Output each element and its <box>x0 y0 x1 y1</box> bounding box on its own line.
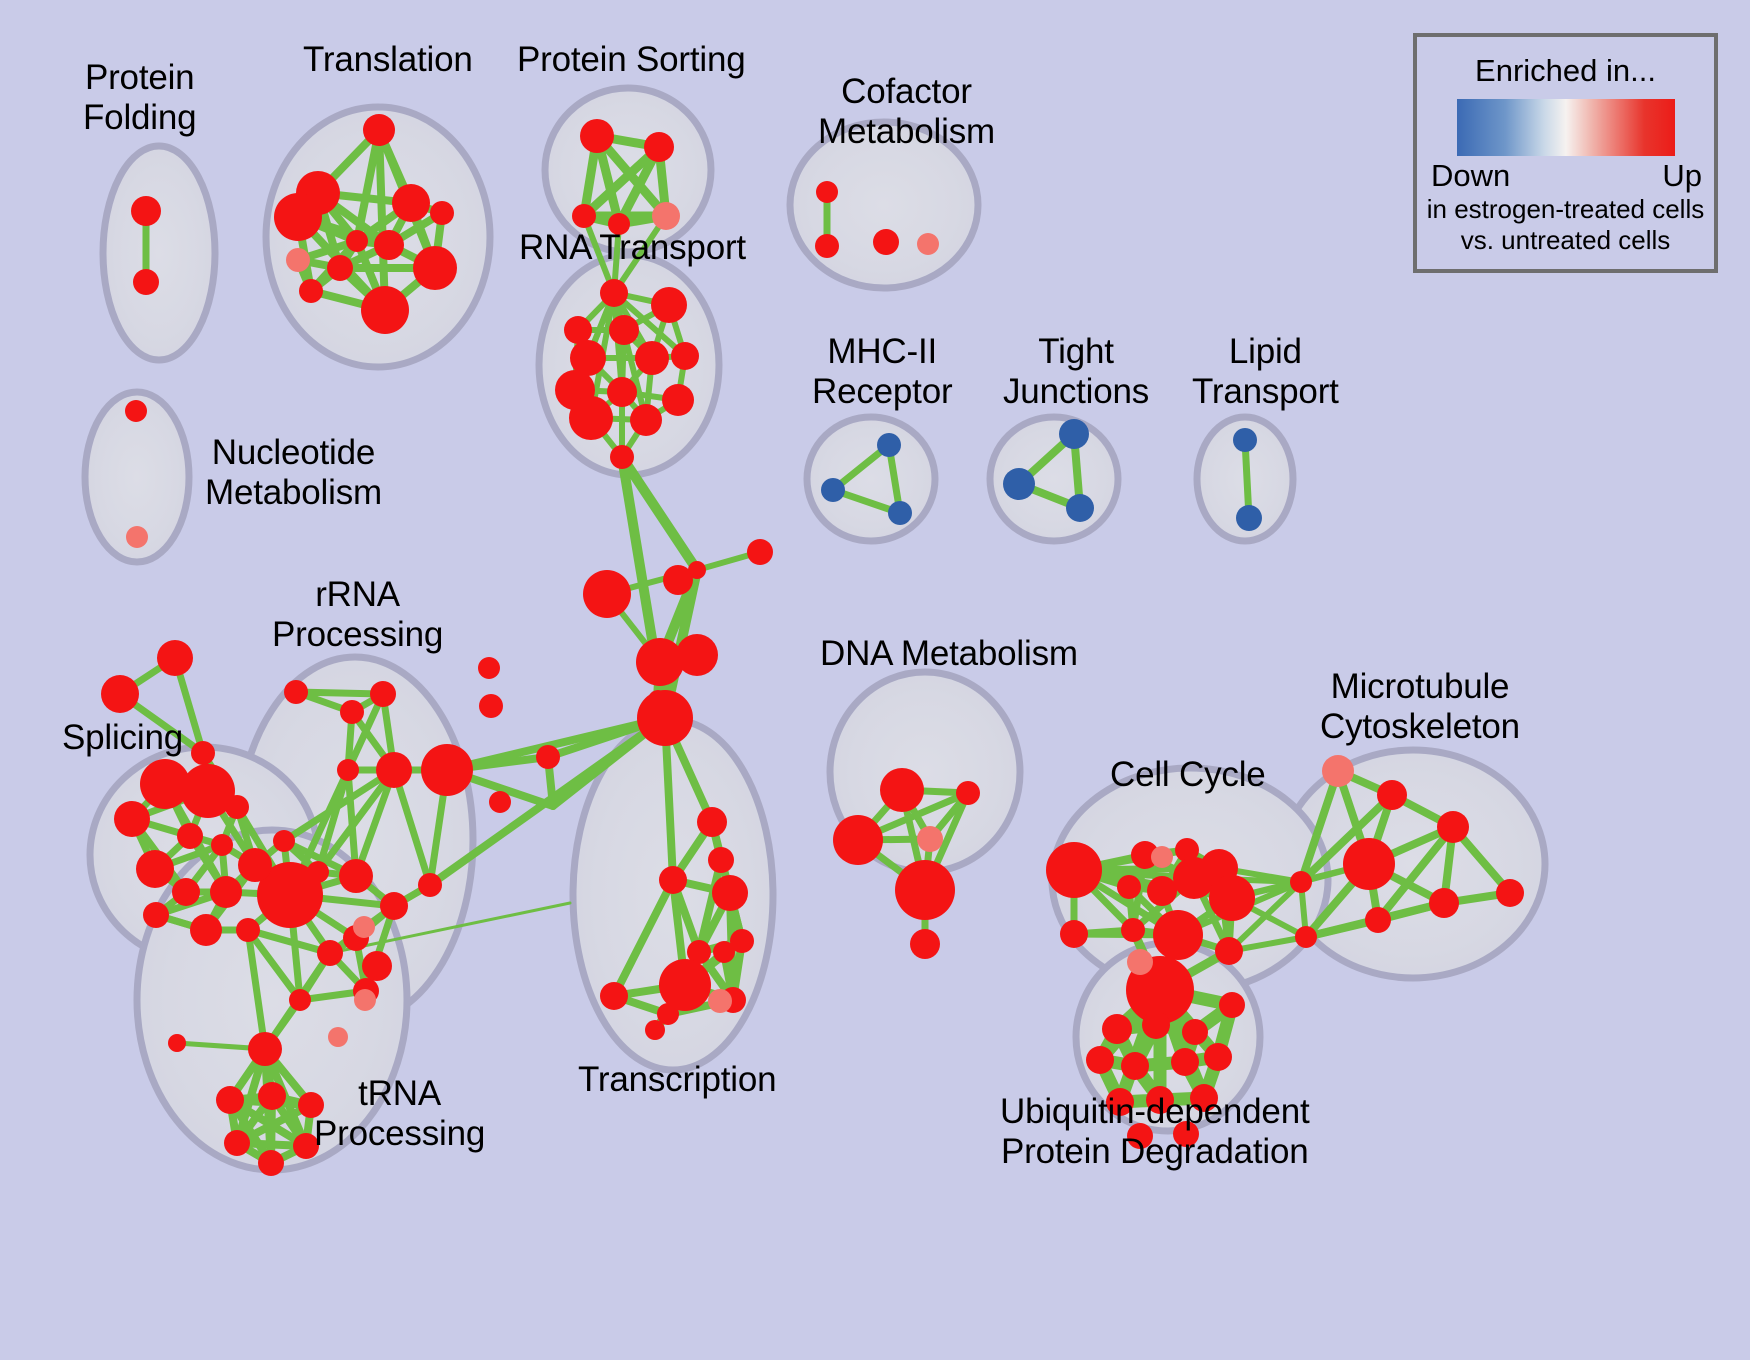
node <box>258 1082 286 1110</box>
node <box>713 941 735 963</box>
cluster-label-splicing: Splicing <box>62 718 183 758</box>
node <box>1060 920 1088 948</box>
node <box>210 876 242 908</box>
node <box>273 830 295 852</box>
node <box>489 791 511 813</box>
node <box>651 287 687 323</box>
node <box>569 396 613 440</box>
network-figure-canvas: Protein Folding Translation Protein Sort… <box>0 0 1750 1360</box>
node <box>1102 1014 1132 1044</box>
node <box>1121 918 1145 942</box>
node <box>478 657 500 679</box>
node <box>662 384 694 416</box>
node <box>1290 871 1312 893</box>
node-down <box>821 478 845 502</box>
node <box>1121 1052 1149 1080</box>
node <box>583 570 631 618</box>
node <box>1496 879 1524 907</box>
node <box>1377 780 1407 810</box>
node <box>636 638 684 686</box>
node <box>421 744 473 796</box>
node <box>430 201 454 225</box>
node <box>609 315 639 345</box>
cluster-label-rrna-processing: rRNA Processing <box>272 575 443 655</box>
node <box>688 561 706 579</box>
cluster-label-protein-sorting: Protein Sorting <box>517 40 746 80</box>
node <box>1086 1046 1114 1074</box>
node-down <box>888 501 912 525</box>
node <box>340 700 364 724</box>
legend-caption-line2: vs. untreated cells <box>1417 225 1714 256</box>
node <box>644 132 674 162</box>
node-faded <box>652 202 680 230</box>
node <box>1295 926 1317 948</box>
node <box>289 989 311 1011</box>
node <box>317 940 343 966</box>
node <box>833 815 883 865</box>
node-faded <box>353 916 375 938</box>
node <box>157 640 193 676</box>
node <box>168 1034 186 1052</box>
node <box>600 279 628 307</box>
legend-endpoints: Down Up <box>1417 156 1714 194</box>
legend-caption-line1: in estrogen-treated cells <box>1417 194 1714 225</box>
node-down <box>1003 468 1035 500</box>
cluster-label-cofactor-metabolism: Cofactor Metabolism <box>818 72 995 152</box>
cluster-label-trna-processing: tRNA Processing <box>314 1074 485 1154</box>
node <box>380 892 408 920</box>
cluster-label-microtubule: Microtubule Cytoskeleton <box>1320 667 1520 747</box>
node <box>362 951 392 981</box>
node <box>1142 1011 1170 1039</box>
node <box>1204 1043 1232 1071</box>
node-faded <box>286 248 310 272</box>
node-faded <box>354 989 376 1011</box>
node-faded <box>1127 949 1153 975</box>
node-faded <box>708 989 732 1013</box>
node <box>131 196 161 226</box>
node-faded <box>126 526 148 548</box>
node-faded <box>1151 846 1173 868</box>
node <box>479 694 503 718</box>
node <box>339 859 373 893</box>
node <box>376 752 412 788</box>
node <box>172 878 200 906</box>
node <box>564 316 592 344</box>
cluster-label-nucleotide-metabolism: Nucleotide Metabolism <box>205 433 382 513</box>
node <box>225 795 249 819</box>
node <box>1209 875 1255 921</box>
node <box>671 342 699 370</box>
node <box>1219 992 1245 1018</box>
node <box>413 246 457 290</box>
node <box>536 745 560 769</box>
node <box>114 801 150 837</box>
node <box>363 114 395 146</box>
node <box>346 230 368 252</box>
node <box>873 229 899 255</box>
node <box>238 848 272 882</box>
cluster-label-ubiquitin-degradation: Ubiquitin-dependent Protein Degradation <box>1000 1092 1310 1172</box>
cluster-label-dna-metabolism: DNA Metabolism <box>820 634 1078 674</box>
legend-title: Enriched in... <box>1417 53 1714 89</box>
node-faded <box>917 233 939 255</box>
legend-low-label: Down <box>1431 158 1510 194</box>
node <box>370 681 396 707</box>
node <box>712 875 748 911</box>
node-faded <box>328 1027 348 1047</box>
node <box>133 269 159 295</box>
node <box>211 834 233 856</box>
node <box>190 914 222 946</box>
node <box>637 690 693 746</box>
node <box>572 204 596 228</box>
node <box>1365 907 1391 933</box>
node-faded <box>1322 755 1354 787</box>
legend-panel: Enriched in... Down Up in estrogen-treat… <box>1413 33 1718 273</box>
node <box>101 675 139 713</box>
node <box>610 445 634 469</box>
node <box>1182 1019 1208 1045</box>
node <box>600 982 628 1010</box>
cluster-label-protein-folding: Protein Folding <box>83 58 196 138</box>
node <box>258 1150 284 1176</box>
node <box>1046 842 1102 898</box>
node <box>216 1086 244 1114</box>
node <box>191 741 215 765</box>
node-down <box>1059 419 1089 449</box>
node <box>880 768 924 812</box>
node <box>607 377 637 407</box>
node-down <box>877 433 901 457</box>
node-down <box>1233 428 1257 452</box>
node <box>635 341 669 375</box>
cluster-hull-mhc2 <box>807 417 935 541</box>
node <box>337 759 359 781</box>
node <box>418 873 442 897</box>
cluster-label-mhc-ii-receptor: MHC-II Receptor <box>812 332 952 412</box>
node <box>136 850 174 888</box>
node <box>327 255 353 281</box>
node <box>645 1020 665 1040</box>
node <box>630 404 662 436</box>
node <box>1117 875 1141 899</box>
cluster-label-cell-cycle: Cell Cycle <box>1110 755 1266 795</box>
node <box>143 902 169 928</box>
node <box>1437 811 1469 843</box>
node <box>224 1130 250 1156</box>
node <box>236 918 260 942</box>
node <box>708 847 734 873</box>
node <box>299 279 323 303</box>
node <box>816 181 838 203</box>
node <box>956 781 980 805</box>
legend-high-label: Up <box>1662 158 1702 194</box>
node <box>125 400 147 422</box>
node-down <box>1066 494 1094 522</box>
node <box>659 866 687 894</box>
cluster-label-transcription: Transcription <box>578 1060 776 1100</box>
node <box>1147 876 1177 906</box>
node <box>815 234 839 258</box>
node <box>392 184 430 222</box>
color-scale-bar <box>1457 99 1675 156</box>
cluster-hull-protein-folding <box>103 146 215 360</box>
node <box>177 823 203 849</box>
node <box>1153 910 1203 960</box>
node <box>1429 888 1459 918</box>
node <box>676 634 718 676</box>
node <box>747 539 773 565</box>
cluster-label-tight-junctions: Tight Junctions <box>1003 332 1149 412</box>
node <box>374 230 404 260</box>
node <box>284 680 308 704</box>
node <box>1343 838 1395 890</box>
node <box>1215 937 1243 965</box>
node-down <box>1236 505 1262 531</box>
node <box>910 929 940 959</box>
node <box>895 860 955 920</box>
cluster-label-lipid-transport: Lipid Transport <box>1192 332 1339 412</box>
node <box>248 1032 282 1066</box>
node <box>361 286 409 334</box>
node <box>697 807 727 837</box>
cluster-label-rna-transport: RNA Transport <box>519 228 746 268</box>
cluster-label-translation: Translation <box>303 40 473 80</box>
node <box>274 193 322 241</box>
node <box>580 119 614 153</box>
node <box>1171 1048 1199 1076</box>
node-faded <box>917 826 943 852</box>
